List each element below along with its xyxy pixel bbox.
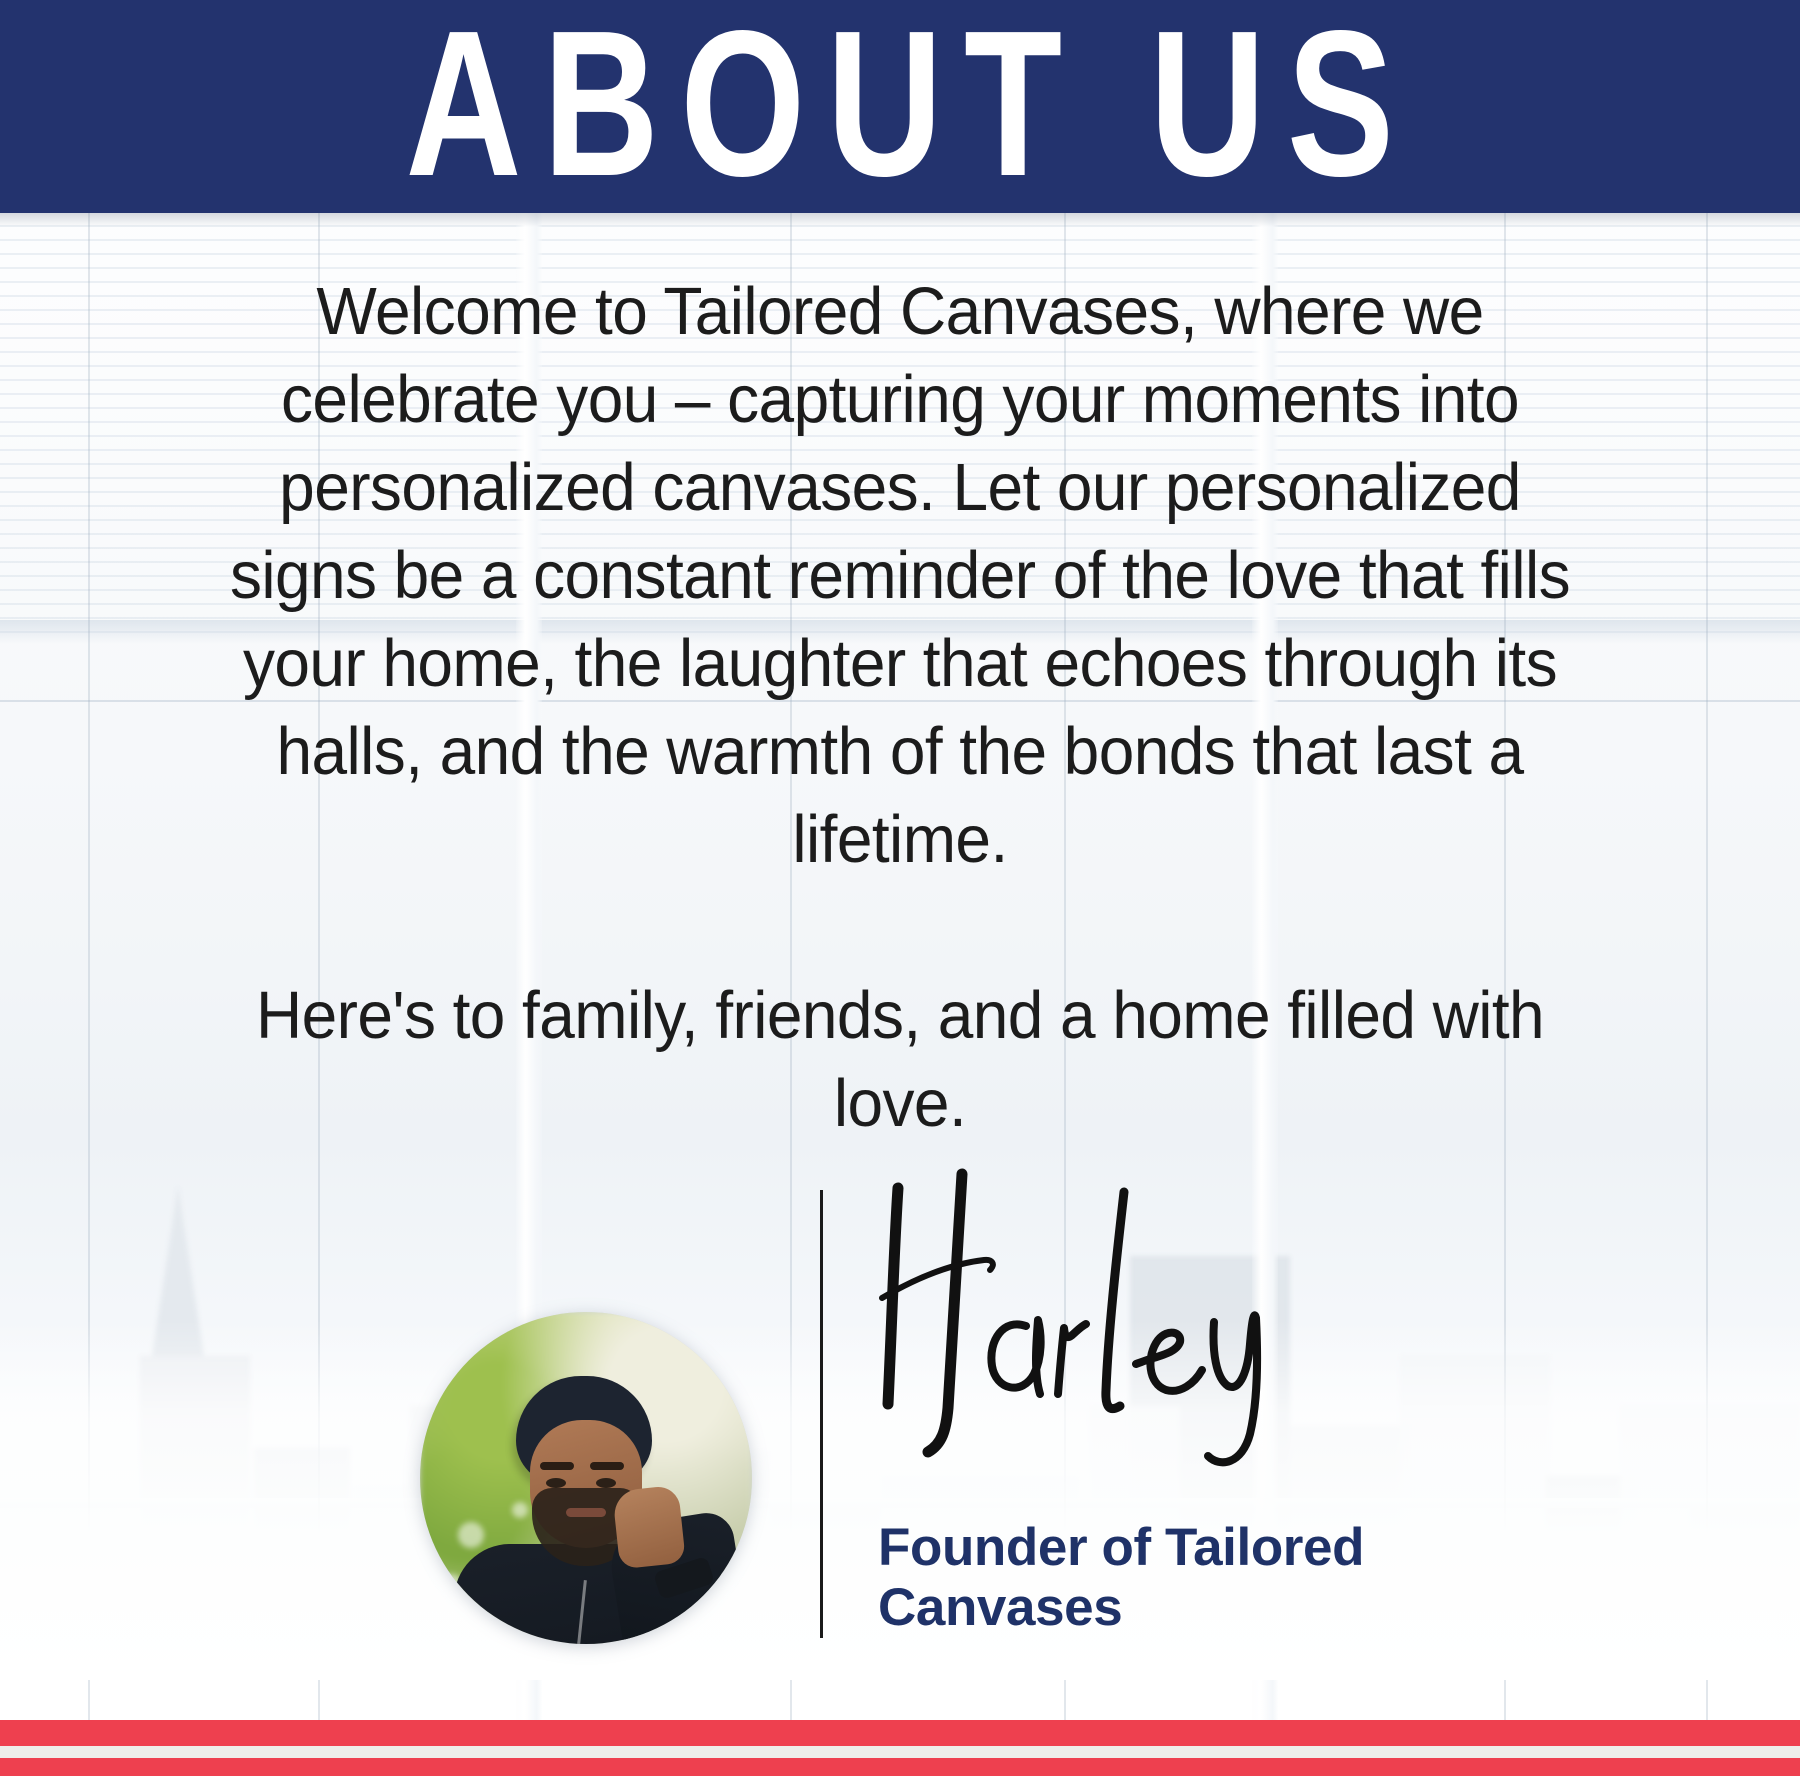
footer-stripe-top (0, 1720, 1800, 1746)
bokeh (512, 1502, 528, 1518)
about-copy: Welcome to Tailored Canvases, where we c… (227, 268, 1574, 1148)
header-shadow (0, 213, 1800, 227)
paragraph-closing: Here's to family, friends, and a home fi… (227, 972, 1574, 1148)
founder-title: Founder of Tailored Canvases (878, 1518, 1498, 1638)
photo-eyebrow (540, 1462, 574, 1470)
photo-hand (612, 1485, 686, 1569)
photo-eyebrow (590, 1462, 624, 1470)
photo-eye (596, 1478, 616, 1488)
signature-divider (820, 1190, 823, 1638)
photo-eye (546, 1478, 566, 1488)
footer-stripe-gap (0, 1746, 1800, 1758)
avatar (420, 1312, 752, 1644)
founder-title-line-1: Founder of Tailored (878, 1518, 1498, 1578)
bokeh (458, 1522, 484, 1548)
page-title: ABOUT US (384, 0, 1415, 210)
photo-lips (566, 1508, 606, 1517)
paragraph-spacer (227, 884, 1574, 972)
founder-photo (420, 1312, 752, 1644)
footer-stripe-bottom (0, 1758, 1800, 1776)
founder-title-line-2: Canvases (878, 1578, 1498, 1638)
about-us-poster: ABOUT US Welcome to Tailored Canvases, w… (0, 0, 1800, 1776)
paragraph-intro: Welcome to Tailored Canvases, where we c… (227, 268, 1574, 884)
header-bar: ABOUT US (0, 0, 1800, 213)
